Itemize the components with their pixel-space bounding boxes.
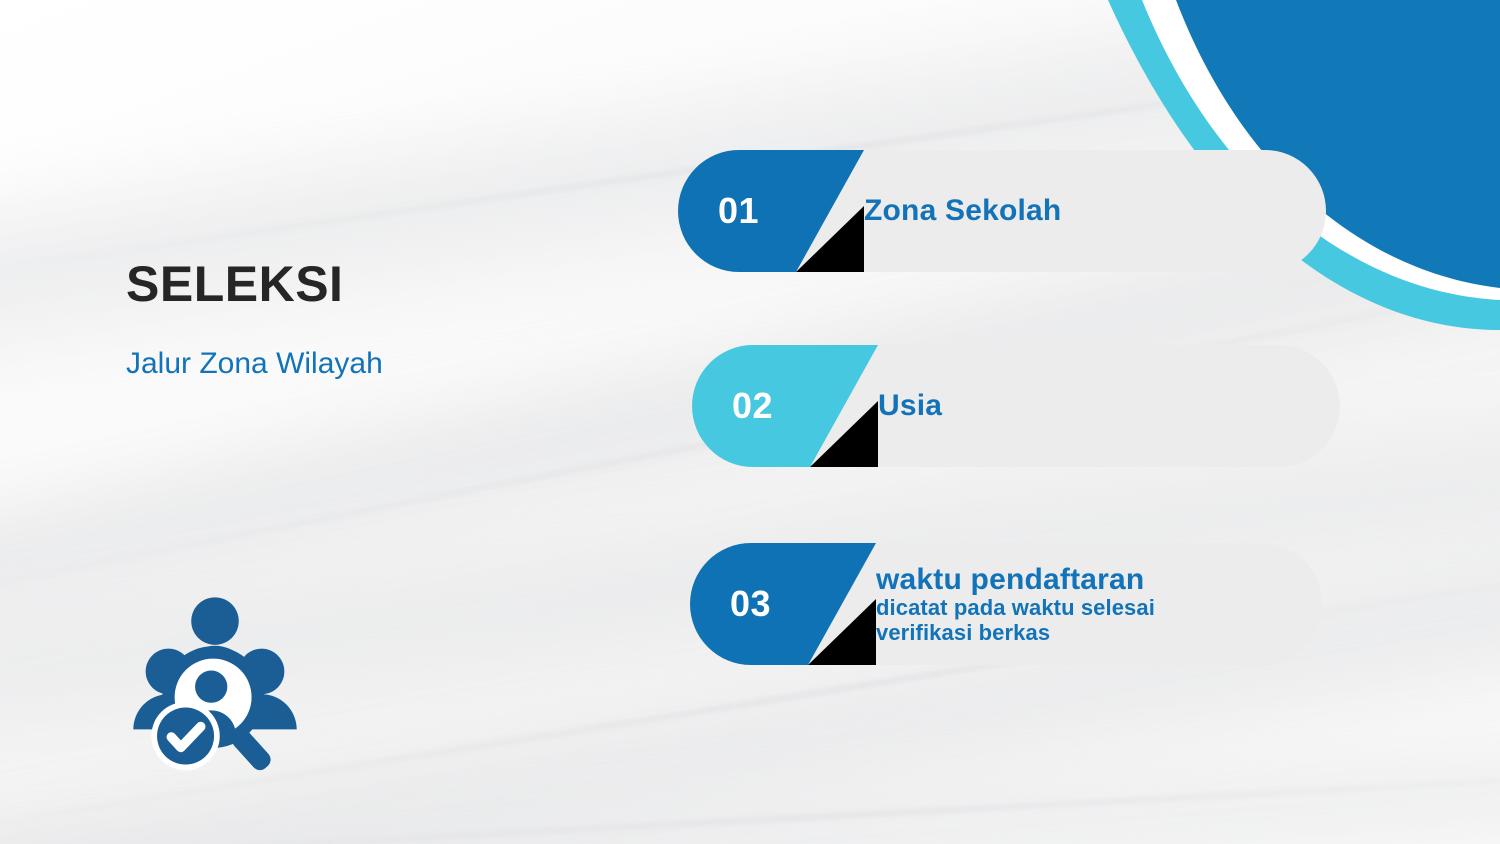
- lens-person-head: [195, 671, 227, 703]
- page-title: SELEKSI: [126, 258, 596, 311]
- card-title: waktu pendaftaran: [876, 563, 1155, 597]
- card-title: Usia: [878, 389, 942, 423]
- page-subtitle: Jalur Zona Wilayah: [126, 347, 596, 380]
- people-search-verified-icon: [120, 585, 310, 775]
- list-item[interactable]: 03 waktu pendaftaran dicatat pada waktu …: [690, 543, 1322, 665]
- card-title: Zona Sekolah: [864, 194, 1061, 228]
- card-number: 01: [678, 150, 864, 272]
- card-text-block: Zona Sekolah: [864, 150, 1061, 272]
- left-text-block: SELEKSI Jalur Zona Wilayah: [126, 258, 596, 380]
- card-text-block: Usia: [878, 345, 942, 467]
- card-number: 03: [690, 543, 876, 665]
- card-subtitle-line: dicatat pada waktu selesai: [876, 596, 1155, 621]
- list-item[interactable]: 01 Zona Sekolah: [678, 150, 1326, 272]
- card-number: 02: [692, 345, 878, 467]
- list-item[interactable]: 02 Usia: [692, 345, 1340, 467]
- slide-canvas: SELEKSI Jalur Zona Wilayah: [0, 0, 1500, 844]
- person-center-head: [191, 597, 239, 645]
- card-text-block: waktu pendaftaran dicatat pada waktu sel…: [876, 543, 1155, 665]
- card-subtitle-line: verifikasi berkas: [876, 621, 1155, 646]
